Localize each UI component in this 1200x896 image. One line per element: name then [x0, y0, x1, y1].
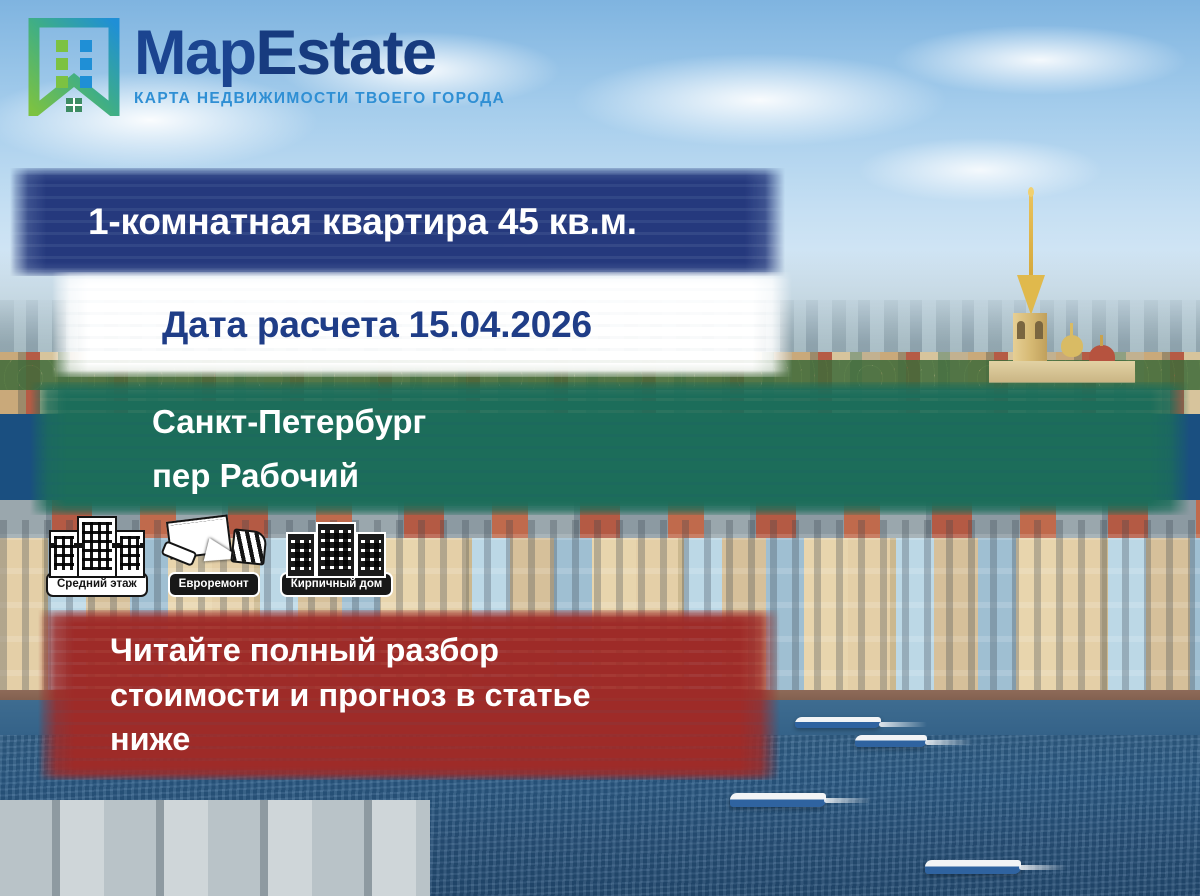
- spire-needle: [1029, 195, 1033, 281]
- feature-badge-middle-floor[interactable]: Средний этаж: [46, 512, 148, 597]
- spire-cone: [1017, 275, 1045, 315]
- brand-wordmark: MapEstate: [134, 22, 505, 85]
- address-text-block: Санкт-Петербург пер Рабочий: [30, 395, 426, 502]
- golden-dome: [1061, 335, 1083, 357]
- bookmark-building-icon: [28, 18, 120, 116]
- boat: [925, 860, 1021, 874]
- cta-text-block: Читайте полный разбор стоимости и прогно…: [38, 628, 591, 762]
- brick-building-icon: [286, 516, 386, 578]
- brand-tagline: КАРТА НЕДВИЖИМОСТИ ТВОЕГО ГОРОДА: [134, 90, 505, 108]
- calculation-date-text: Дата расчета 15.04.2026: [52, 304, 592, 346]
- boat: [795, 717, 881, 728]
- cta-banner: Читайте полный разбор стоимости и прогно…: [38, 610, 780, 780]
- cta-line-3: ниже: [110, 717, 591, 762]
- boat: [730, 793, 826, 807]
- address-street: пер Рабочий: [152, 449, 426, 502]
- brand-name-estate: Estate: [256, 18, 436, 88]
- address-city: Санкт-Петербург: [152, 395, 426, 448]
- foreground-rooftops: [0, 800, 430, 896]
- renovation-tools-icon: [162, 516, 266, 578]
- feature-badge-renovation[interactable]: Евроремонт: [162, 516, 266, 597]
- brand-logo[interactable]: MapEstate КАРТА НЕДВИЖИМОСТИ ТВОЕГО ГОРО…: [28, 18, 505, 116]
- feature-badges: Средний этаж Евроремонт Кирпичный дом: [46, 512, 393, 597]
- cta-line-1: Читайте полный разбор: [110, 628, 591, 673]
- property-title-banner: 1-комнатная квартира 45 кв.м.: [10, 168, 785, 276]
- peter-and-paul-fortress-icon: [985, 195, 1135, 380]
- building-midfloor-icon: [49, 512, 145, 578]
- fortress-wall: [989, 361, 1135, 383]
- brand-name-map: Map: [134, 18, 256, 88]
- property-title-text: 1-комнатная квартира 45 кв.м.: [10, 201, 637, 243]
- boat: [855, 735, 927, 747]
- calculation-date-banner: Дата расчета 15.04.2026: [52, 272, 792, 377]
- address-banner: Санкт-Петербург пер Рабочий: [30, 382, 1190, 515]
- cta-line-2: стоимости и прогноз в статье: [110, 673, 591, 718]
- feature-badge-brick-house[interactable]: Кирпичный дом: [280, 516, 394, 597]
